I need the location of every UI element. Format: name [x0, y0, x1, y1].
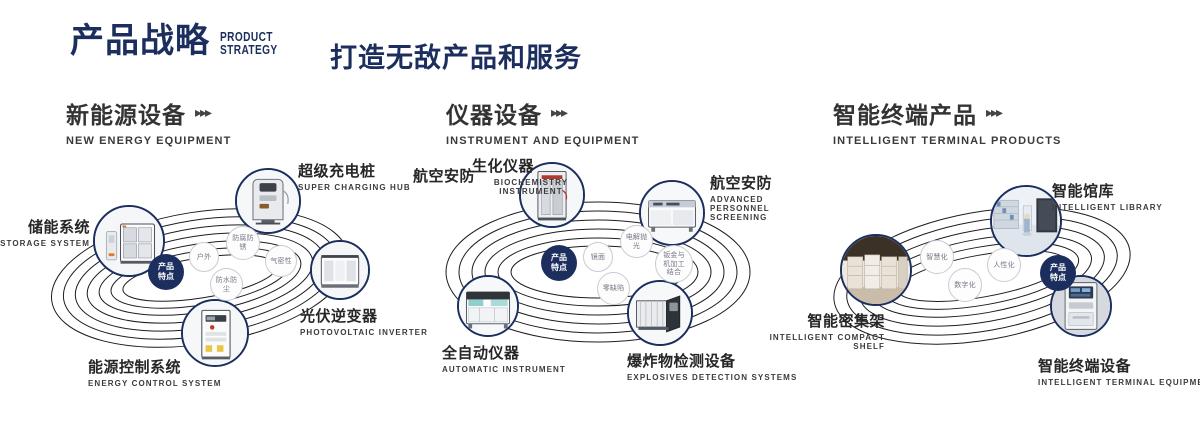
automatic-analyzer-icon	[459, 277, 517, 335]
label-cn: 航空安防	[710, 172, 802, 193]
core-line2: 特点	[158, 272, 174, 281]
cluster-intelligent-terminal-products: 智能馆库 INTELLIGENT LIBRARY 智能密集架 INTELLIGE…	[800, 150, 1200, 410]
node-photovoltaic-inverter[interactable]	[310, 240, 370, 300]
core-line2: 特点	[1050, 273, 1066, 282]
feature-bubble-outdoor: 户外	[189, 242, 219, 272]
feature-text: 零缺陷	[601, 284, 627, 293]
label-en: EXPLOSIVES DETECTION SYSTEMS	[627, 373, 797, 382]
feature-bubble-airtightness: 气密性	[265, 245, 297, 277]
cluster-new-energy-equipment: 储能系统 ENERGY STORAGE SYSTEM 超级充电桩 SUPER C…	[0, 150, 400, 410]
node-super-charging-hub[interactable]	[235, 168, 301, 234]
explosive-detector-icon	[629, 282, 691, 344]
feature-text: 钣金与机加工结合	[660, 251, 688, 277]
label-en: BIOCHEMISTRY INSTRUMENT	[488, 178, 574, 196]
feature-text: 人性化	[991, 261, 1017, 270]
feature-text: 户外	[197, 253, 211, 262]
feature-text: 气密性	[269, 257, 293, 266]
core-bubble-product-features: 产品 特点	[1040, 255, 1076, 291]
label-en: AUTOMATIC INSTRUMENT	[442, 365, 566, 374]
label-biochemistry-instrument: 生化仪器 BIOCHEMISTRY INSTRUMENT	[472, 155, 582, 196]
page-subtitle: 打造无敌产品和服务	[330, 36, 582, 75]
chevron-right-icon: ▸▸▸	[986, 105, 1001, 121]
page-title-cn: 产品战略	[70, 24, 210, 58]
label-automatic-instrument: 全自动仪器 AUTOMATIC INSTRUMENT	[442, 342, 566, 374]
label-explosives-detection-systems: 爆炸物检测设备 EXPLOSIVES DETECTION SYSTEMS	[627, 350, 797, 382]
core-text: 产品 特点	[551, 253, 567, 273]
section-title-cn-text: 仪器设备	[446, 96, 542, 130]
label-intelligent-compact-shelf: 智能密集架 INTELLIGENT COMPACT SHELF	[745, 310, 885, 351]
node-explosives-detection-systems[interactable]	[627, 280, 693, 346]
label-aviation-security-left: 航空安防	[340, 165, 475, 186]
feature-text: 数字化	[952, 281, 978, 290]
feature-bubble-intelligent: 智慧化	[920, 240, 954, 274]
section-title-cn: 智能终端产品 ▸▸▸	[833, 96, 1061, 130]
cluster-instrument-and-equipment: 航空安防 生化仪器 BIOCHEMISTRY INSTRUMENT 航空安防 A…	[400, 150, 800, 410]
label-energy-storage-system: 储能系统 ENERGY STORAGE SYSTEM	[0, 216, 90, 248]
label-en: ENERGY CONTROL SYSTEM	[88, 379, 222, 388]
label-cn: 能源控制系统	[88, 356, 222, 377]
label-cn: 航空安防	[340, 165, 475, 186]
feature-bubble-anti-corrosion: 防腐防锈	[226, 226, 260, 260]
section-title-new-energy-equipment: 新能源设备 ▸▸▸ NEW ENERGY EQUIPMENT	[66, 96, 231, 147]
label-intelligent-library: 智能馆库 INTELLIGENT LIBRARY	[1052, 180, 1163, 212]
section-title-cn-text: 智能终端产品	[833, 96, 977, 130]
library-room-icon	[992, 187, 1060, 255]
ev-charger-icon	[237, 170, 299, 232]
label-en: ENERGY STORAGE SYSTEM	[0, 239, 90, 248]
label-cn: 储能系统	[0, 216, 90, 237]
page-title-en-line2: STRATEGY	[220, 42, 278, 57]
feature-text: 防腐防锈	[230, 234, 256, 252]
core-line1: 产品	[551, 253, 567, 262]
core-text: 产品 特点	[1050, 263, 1066, 283]
feature-bubble-sheetmetal-machining: 钣金与机加工结合	[655, 245, 693, 283]
inverter-cabinet-icon	[312, 242, 368, 298]
section-title-cn: 仪器设备 ▸▸▸	[446, 96, 639, 130]
label-cn: 智能密集架	[745, 310, 885, 331]
section-title-en: NEW ENERGY EQUIPMENT	[66, 135, 231, 147]
section-title-cn-text: 新能源设备	[66, 96, 186, 130]
chevron-right-icon: ▸▸▸	[195, 105, 210, 121]
page-title-en: PRODUCT STRATEGY	[220, 30, 278, 57]
node-intelligent-compact-shelf[interactable]	[840, 234, 912, 306]
label-en: ADVANCED PERSONNEL SCREENING	[710, 195, 802, 222]
feature-bubble-humanized: 人性化	[987, 248, 1021, 282]
core-text: 产品 特点	[158, 262, 174, 282]
feature-bubble-mirror-finish: 镜面	[583, 242, 613, 272]
product-strategy-infographic: 产品战略 PRODUCT STRATEGY 打造无敌产品和服务 新能源设备 ▸▸…	[0, 0, 1200, 422]
core-line1: 产品	[1050, 263, 1066, 272]
label-cn: 智能终端设备	[1038, 355, 1200, 376]
label-cn: 生化仪器	[472, 155, 582, 176]
chevron-right-icon: ▸▸▸	[551, 105, 566, 121]
label-en: INTELLIGENT LIBRARY	[1052, 203, 1163, 212]
label-en: INTELLIGENT COMPACT SHELF	[745, 333, 885, 351]
node-automatic-instrument[interactable]	[457, 275, 519, 337]
feature-text: 镜面	[591, 253, 605, 262]
label-energy-control-system: 能源控制系统 ENERGY CONTROL SYSTEM	[88, 356, 222, 388]
core-bubble-product-features: 产品 特点	[148, 254, 184, 290]
feature-text: 智慧化	[924, 253, 950, 262]
feature-text: 电解抛光	[625, 233, 649, 251]
core-bubble-product-features: 产品 特点	[541, 245, 577, 281]
section-title-intelligent-terminal-products: 智能终端产品 ▸▸▸ INTELLIGENT TERMINAL PRODUCTS	[833, 96, 1061, 147]
section-title-en: INTELLIGENT TERMINAL PRODUCTS	[833, 135, 1061, 147]
section-title-en: INSTRUMENT AND EQUIPMENT	[446, 135, 639, 147]
label-cn: 智能馆库	[1052, 180, 1163, 201]
label-intelligent-terminal-equipment: 智能终端设备 INTELLIGENT TERMINAL EQUIPMENT	[1038, 355, 1200, 387]
feature-text: 防水防尘	[215, 276, 239, 294]
core-line1: 产品	[158, 262, 174, 271]
label-cn: 全自动仪器	[442, 342, 566, 363]
label-advanced-personnel-screening: 航空安防 ADVANCED PERSONNEL SCREENING	[710, 172, 802, 222]
page-header: 产品战略 PRODUCT STRATEGY	[70, 24, 294, 58]
feature-bubble-electropolishing: 电解抛光	[620, 225, 653, 258]
section-title-cn: 新能源设备 ▸▸▸	[66, 96, 231, 130]
feature-bubble-digitalized: 数字化	[948, 268, 982, 302]
section-title-instrument-and-equipment: 仪器设备 ▸▸▸ INSTRUMENT AND EQUIPMENT	[446, 96, 639, 147]
label-en: INTELLIGENT TERMINAL EQUIPMENT	[1038, 378, 1200, 387]
core-line2: 特点	[551, 263, 567, 272]
compact-shelf-icon	[842, 236, 910, 304]
feature-bubble-zero-defect: 零缺陷	[597, 272, 630, 305]
label-cn: 爆炸物检测设备	[627, 350, 797, 371]
feature-bubble-waterproof-dustproof: 防水防尘	[210, 268, 243, 301]
